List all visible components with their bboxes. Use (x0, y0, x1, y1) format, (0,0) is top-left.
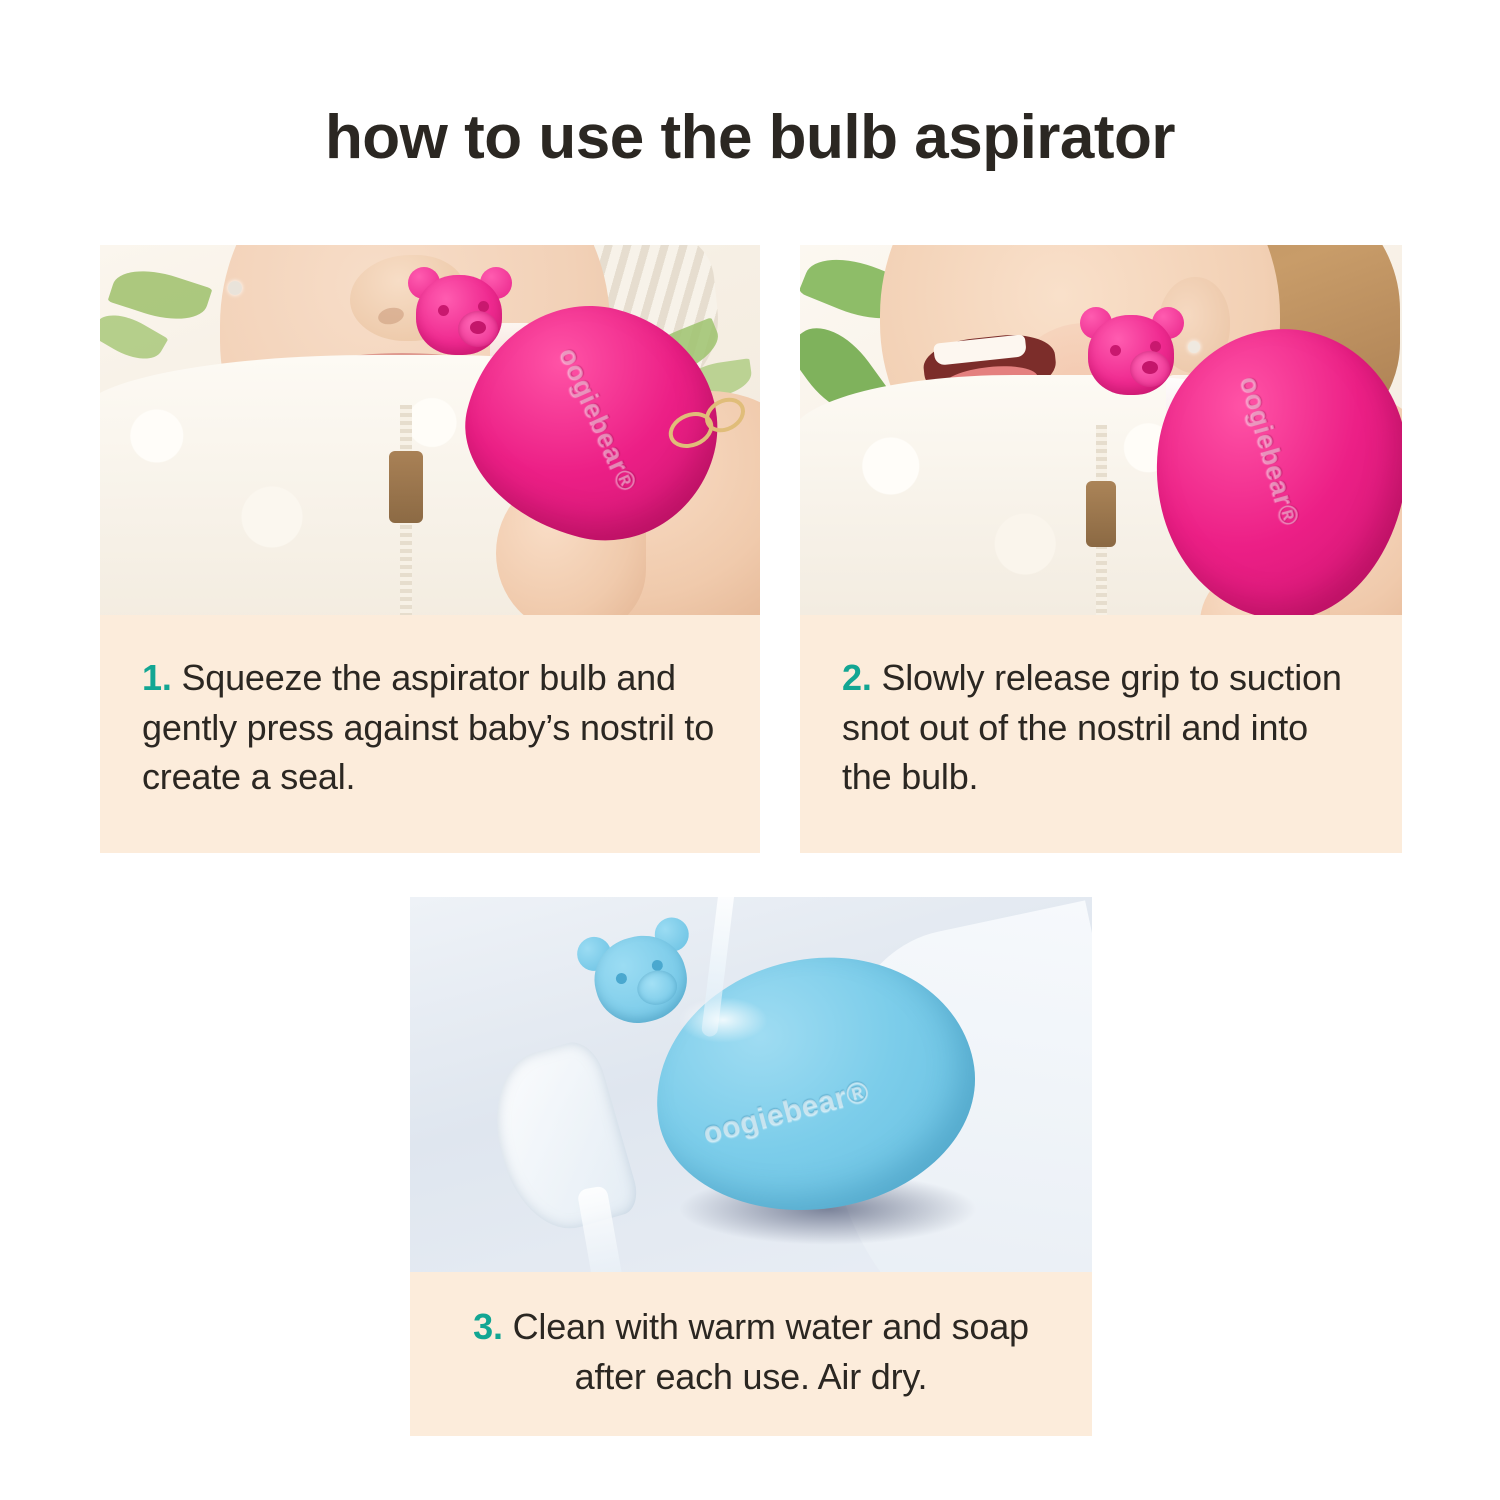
step-text: Squeeze the aspirator bulb and gently pr… (142, 657, 714, 797)
bear-eye-left (438, 305, 449, 316)
step-2-caption: 2. Slowly release grip to suction snot o… (800, 615, 1402, 853)
step-card-3: oogiebear® 3. Clean with warm water and … (410, 897, 1092, 1436)
step-number: 3. (473, 1306, 503, 1347)
step-card-1: oogiebear® 1. Squeeze the aspirator bulb… (100, 245, 760, 853)
step-number: 1. (142, 657, 172, 698)
step-1-photo: oogiebear® (100, 245, 760, 615)
product-logo: oogiebear® (1233, 373, 1305, 530)
step-text: Slowly release grip to suction snot out … (842, 657, 1342, 797)
product-logo: oogiebear® (552, 343, 643, 496)
step-2-photo: oogiebear® (800, 245, 1402, 615)
step-3-caption: 3. Clean with warm water and soap after … (410, 1272, 1092, 1436)
step-card-2: oogiebear® 2. Slowly release grip to suc… (800, 245, 1402, 853)
bear-eye-left (1110, 345, 1121, 356)
zipper-pull-tab (389, 451, 423, 523)
clear-nozzle-tip (478, 1036, 643, 1242)
step-1-caption: 1. Squeeze the aspirator bulb and gently… (100, 615, 760, 853)
bear-nose (470, 321, 486, 334)
page-title: how to use the bulb aspirator (0, 104, 1500, 172)
step-text: Clean with warm water and soap after eac… (513, 1306, 1029, 1397)
step-3-photo: oogiebear® (410, 897, 1092, 1272)
step-number: 2. (842, 657, 872, 698)
product-logo: oogiebear® (700, 1054, 950, 1152)
bear-nose (1142, 361, 1158, 374)
zipper-pull-tab (1086, 481, 1116, 547)
earring (228, 281, 242, 295)
water-splash (678, 997, 768, 1043)
infographic-page: how to use the bulb aspirator (0, 0, 1500, 1500)
